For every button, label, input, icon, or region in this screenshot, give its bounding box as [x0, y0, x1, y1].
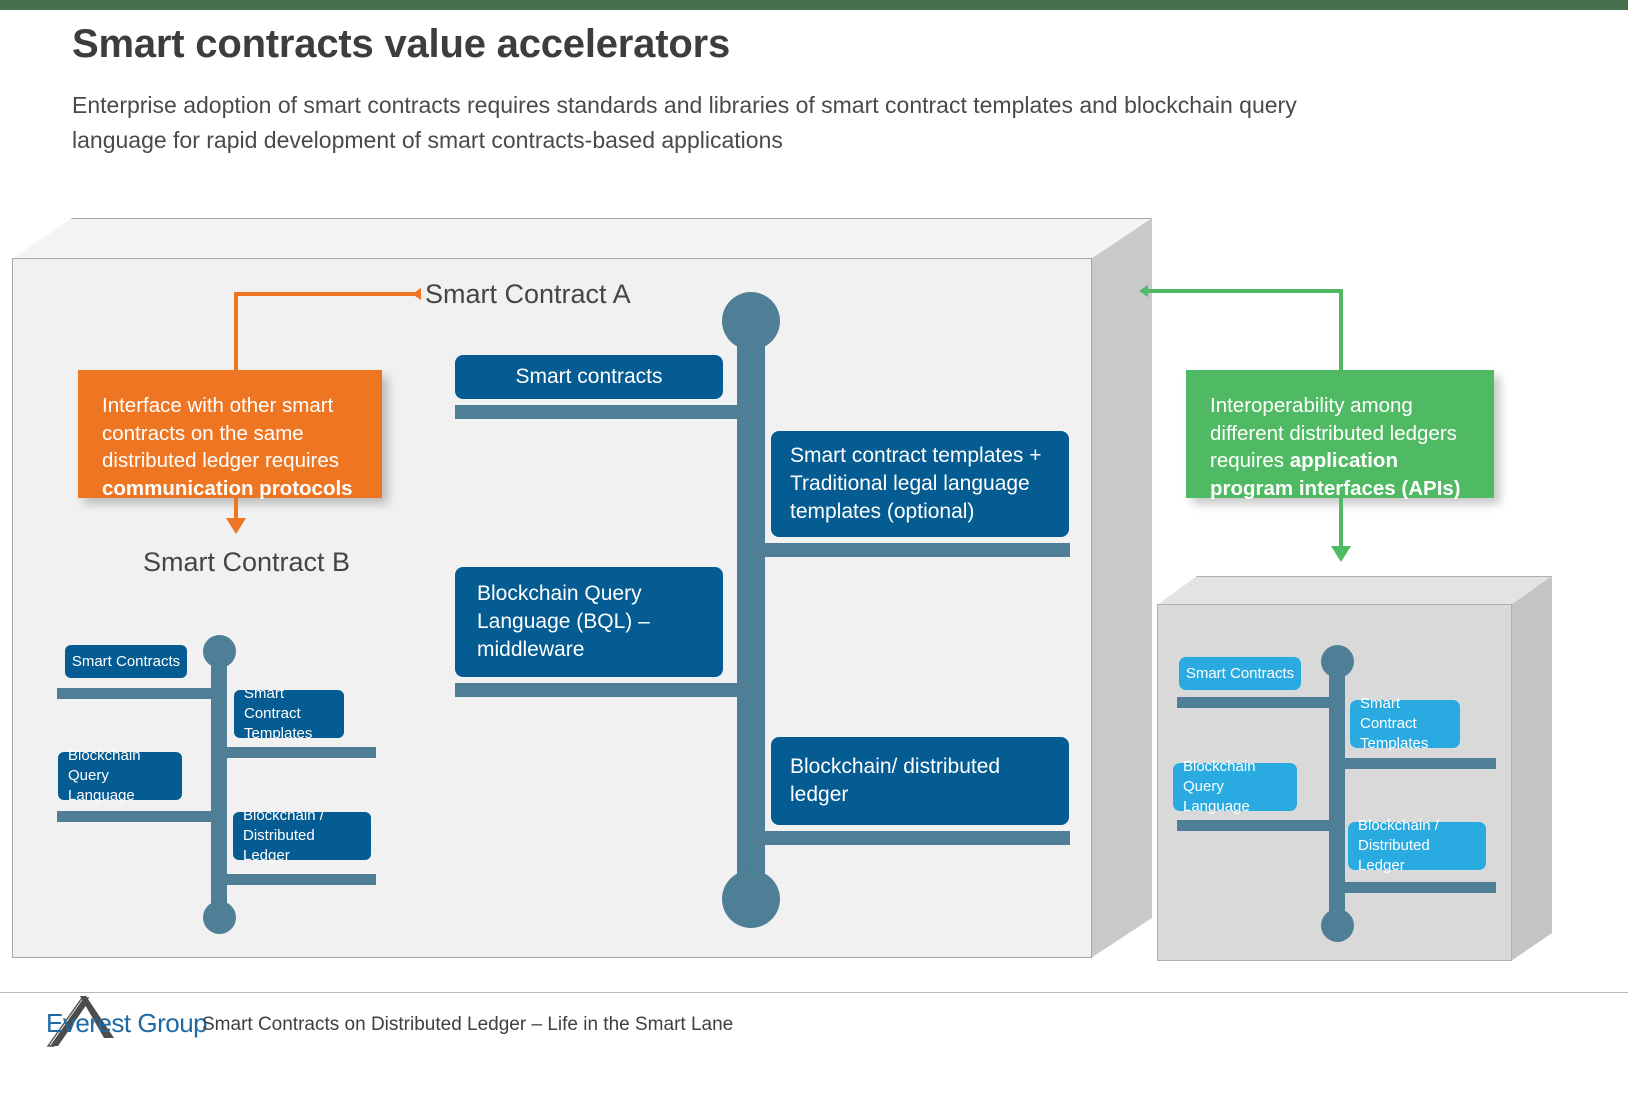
orange-connector-arrowhead [412, 288, 421, 300]
contract-b-rung-left-2 [57, 811, 217, 822]
contract-c-rung-left-1 [1177, 697, 1335, 708]
green-connector-vertical-bottom [1339, 498, 1343, 548]
green-connector-arrow-down [1331, 546, 1351, 562]
callout-communication-protocols: Interface with other smart contracts on … [78, 370, 382, 498]
callout-apis: Interoperability among different distrib… [1186, 370, 1494, 498]
orange-connector-arrow-down [226, 518, 246, 534]
footer-caption: Smart Contracts on Distributed Ledger – … [202, 1014, 733, 1036]
contract-a-chip-smart-contracts[interactable]: Smart contracts [455, 355, 723, 399]
contract-b-chip-smart-contracts[interactable]: Smart Contracts [65, 645, 187, 678]
contract-b-chip-ledger[interactable]: Blockchain / Distributed Ledger [233, 812, 371, 860]
top-accent-bar [0, 0, 1628, 10]
contract-b-chip-bql[interactable]: Blockchain Query Language [58, 752, 182, 800]
page-subtitle: Enterprise adoption of smart contracts r… [72, 88, 1322, 158]
contract-a-rung-left-1 [455, 405, 745, 419]
contract-b-chip-templates[interactable]: Smart Contract Templates [234, 690, 344, 738]
contract-a-chip-ledger[interactable]: Blockchain/ distributed ledger [771, 737, 1069, 825]
green-connector-vertical-top [1339, 289, 1343, 371]
main-container-side-face [1091, 218, 1153, 958]
smart-contract-b-label: Smart Contract B [143, 547, 350, 578]
contract-b-rung-right-1 [221, 747, 376, 758]
contract-b-rung-right-2 [221, 874, 376, 885]
page-title: Smart contracts value accelerators [72, 22, 730, 67]
contract-c-chip-smart-contracts[interactable]: Smart Contracts [1179, 657, 1301, 690]
contract-b-rung-left-1 [57, 688, 217, 699]
orange-connector-horizontal [234, 292, 420, 296]
secondary-container-side-face [1511, 576, 1552, 961]
orange-connector-vertical-bottom [234, 498, 238, 520]
contract-c-rung-right-1 [1339, 758, 1496, 769]
orange-connector-vertical-top [234, 292, 238, 372]
contract-a-rung-right-2 [757, 831, 1070, 845]
contract-a-rung-right-1 [757, 543, 1070, 557]
main-container-top-face [12, 218, 1152, 260]
footer-divider [0, 992, 1628, 993]
callout-orange-lead: Interface with other smart contracts on … [102, 394, 339, 472]
contract-a-bottom-node [722, 870, 780, 928]
contract-a-chip-templates[interactable]: Smart contract templates + Traditional l… [771, 431, 1069, 537]
everest-group-wordmark: Everest Group [46, 1008, 207, 1039]
secondary-container-top-face [1157, 576, 1552, 606]
contract-c-rung-left-2 [1177, 820, 1335, 831]
contract-c-bottom-node [1321, 909, 1354, 942]
contract-c-chip-bql[interactable]: Blockchain Query Language [1173, 763, 1297, 811]
contract-a-chip-bql[interactable]: Blockchain Query Language (BQL) – middle… [455, 567, 723, 677]
slide-canvas: Smart contracts value accelerators Enter… [0, 0, 1628, 1108]
contract-a-rung-left-2 [455, 683, 745, 697]
smart-contract-a-label: Smart Contract A [425, 279, 631, 310]
green-connector-horizontal [1147, 289, 1343, 293]
contract-c-rung-right-2 [1339, 882, 1496, 893]
callout-orange-emphasis: communication protocols [102, 477, 353, 500]
contract-b-bottom-node [203, 901, 236, 934]
contract-c-chip-templates[interactable]: Smart Contract Templates [1350, 700, 1460, 748]
contract-c-chip-ledger[interactable]: Blockchain / Distributed Ledger [1348, 822, 1486, 870]
